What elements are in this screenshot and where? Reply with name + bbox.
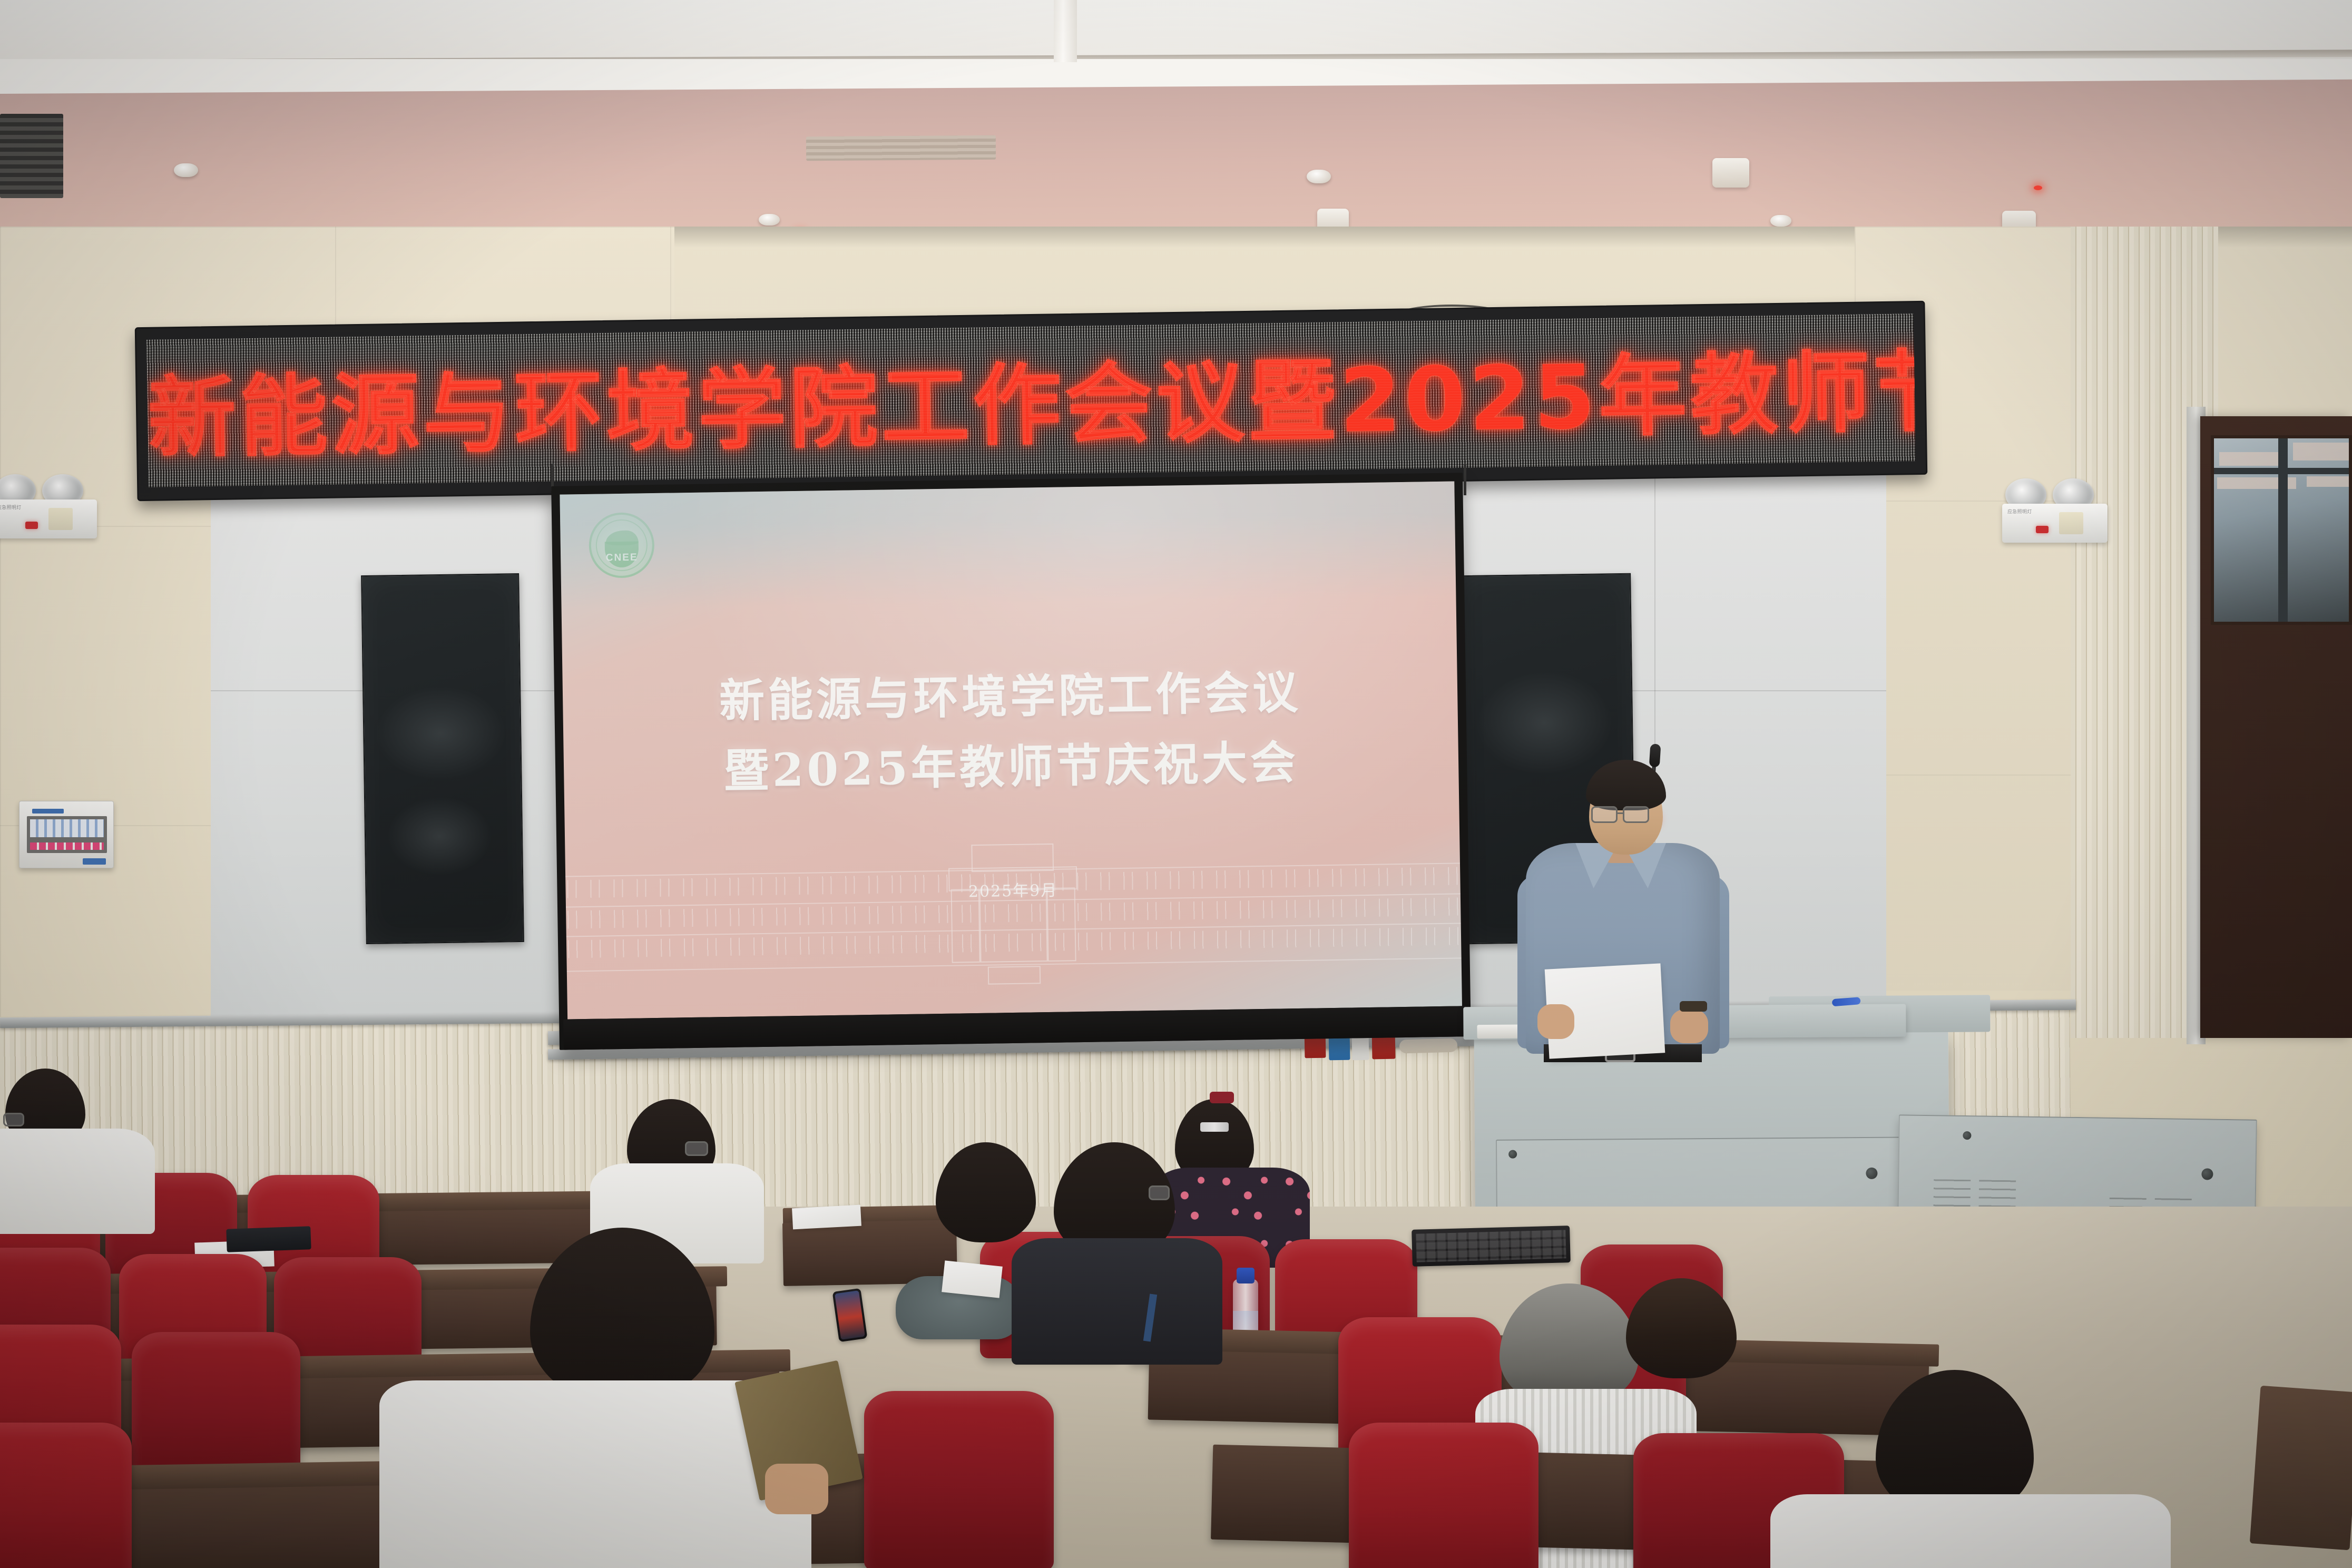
ceiling-upper-slab xyxy=(0,0,2352,59)
emergency-light-indicator xyxy=(2036,526,2049,533)
blackboard-panel-left xyxy=(361,573,524,944)
slide-surface: CNEE 新能源与环境学院工作会议 暨2025年教师节庆祝大会 2025年9月 xyxy=(560,481,1462,1019)
chalk-smudge xyxy=(386,796,493,877)
breaker-switch-row[interactable] xyxy=(30,819,104,837)
cabinet-keyhole[interactable] xyxy=(1866,1168,1877,1179)
keyboard-on-desk[interactable] xyxy=(1412,1226,1571,1267)
exterior-building-shape xyxy=(2307,476,2352,487)
exterior-building-shape xyxy=(2219,452,2282,466)
attendee-a1-shoulders xyxy=(0,1129,155,1234)
emergency-light-right: 应急照明灯 xyxy=(2002,478,2113,547)
seat-d3[interactable] xyxy=(1349,1423,1538,1568)
smoke-detector-icon xyxy=(1307,170,1331,183)
screen-glare-overlay xyxy=(560,481,1462,1019)
projection-screen: CNEE 新能源与环境学院工作会议 暨2025年教师节庆祝大会 2025年9月 xyxy=(551,473,1471,1050)
chalk-roll[interactable] xyxy=(1399,1038,1458,1054)
speaker-right-hand xyxy=(1670,1010,1708,1043)
seat-d2[interactable] xyxy=(864,1391,1054,1568)
emergency-light-label: 应急照明灯 xyxy=(0,505,22,511)
speaker-hair xyxy=(1586,760,1666,810)
emergency-light-left: 应急照明灯 xyxy=(0,474,102,543)
eyeglasses-lens-right-icon xyxy=(685,1141,708,1156)
door-window xyxy=(2211,435,2352,625)
ceiling-speaker-icon xyxy=(1712,158,1749,188)
wristwatch-icon xyxy=(1680,1001,1707,1012)
emergency-light-indicator xyxy=(25,522,38,529)
desk-edge-right xyxy=(2250,1386,2352,1551)
attendee-c-center-shoulders xyxy=(1012,1238,1222,1365)
emergency-light-label: 应急照明灯 xyxy=(2007,509,2032,515)
smoke-detector-icon xyxy=(759,214,780,226)
eyeglasses-lens-right-icon xyxy=(1149,1185,1170,1200)
bottle-cap[interactable] xyxy=(1237,1268,1255,1283)
seat-d1[interactable] xyxy=(0,1423,132,1568)
breaker-window xyxy=(27,816,107,853)
smoke-detector-icon xyxy=(174,163,198,177)
air-vent-left xyxy=(0,114,63,198)
ceiling-drop-column xyxy=(1054,0,1077,62)
breaker-distribution-box[interactable] xyxy=(19,801,114,868)
emergency-light-test-panel[interactable] xyxy=(2059,512,2083,534)
exterior-building-shape xyxy=(2293,443,2351,460)
attendee-d-front-hand xyxy=(765,1464,828,1514)
seat-c2[interactable] xyxy=(132,1332,300,1483)
eyeglasses-bridge xyxy=(1618,812,1624,814)
cabinet-keyhole[interactable] xyxy=(2201,1168,2213,1180)
cabinet-screw xyxy=(1963,1131,1971,1140)
screen-hanger-right xyxy=(1464,464,1466,495)
breaker-box-nameplate xyxy=(32,809,64,814)
window-mullion xyxy=(2214,468,2352,474)
speaker-left-hand xyxy=(1537,1004,1574,1039)
emergency-light-body: 应急照明灯 xyxy=(2002,504,2108,543)
breaker-box-sticker xyxy=(83,858,106,865)
emergency-light-test-panel[interactable] xyxy=(48,508,73,530)
window-mullion xyxy=(2278,438,2288,625)
air-diffuser-ceiling xyxy=(806,135,996,161)
emergency-light-body: 应急照明灯 xyxy=(0,499,97,538)
hair-clip-icon xyxy=(1200,1122,1229,1132)
smoke-detector-icon xyxy=(1770,215,1791,227)
speaker-at-podium xyxy=(1512,753,1733,1048)
breaker-label-strip xyxy=(30,842,104,850)
eyeglasses-lens-right-icon xyxy=(1623,806,1649,823)
folder-dark[interactable] xyxy=(226,1226,311,1252)
attendee-d-right-shoulders xyxy=(1770,1494,2171,1568)
auditorium-scene: 新能源与环境学院工作会议暨2025年教师节庆祝大会 CNEE 新能源与环境学院工… xyxy=(0,0,2352,1568)
cabinet-screw xyxy=(1508,1150,1517,1159)
chalk-smudge xyxy=(374,685,507,781)
led-banner-screen: 新能源与环境学院工作会议暨2025年教师节庆祝大会 xyxy=(146,313,1916,487)
papers-on-desk[interactable] xyxy=(942,1260,1003,1298)
led-banner: 新能源与环境学院工作会议暨2025年教师节庆祝大会 xyxy=(135,301,1928,501)
papers-on-desk[interactable] xyxy=(792,1205,861,1230)
led-banner-text: 新能源与环境学院工作会议暨2025年教师节庆祝大会 xyxy=(146,321,1915,475)
eyeglasses-lens-left-icon xyxy=(1591,806,1618,823)
hair-tie xyxy=(1210,1092,1234,1103)
eyeglasses-lens-left-icon xyxy=(3,1113,24,1126)
ceiling-indicator-led xyxy=(2034,185,2042,190)
phone-screen xyxy=(835,1290,865,1340)
pen-blue[interactable] xyxy=(1832,997,1861,1006)
